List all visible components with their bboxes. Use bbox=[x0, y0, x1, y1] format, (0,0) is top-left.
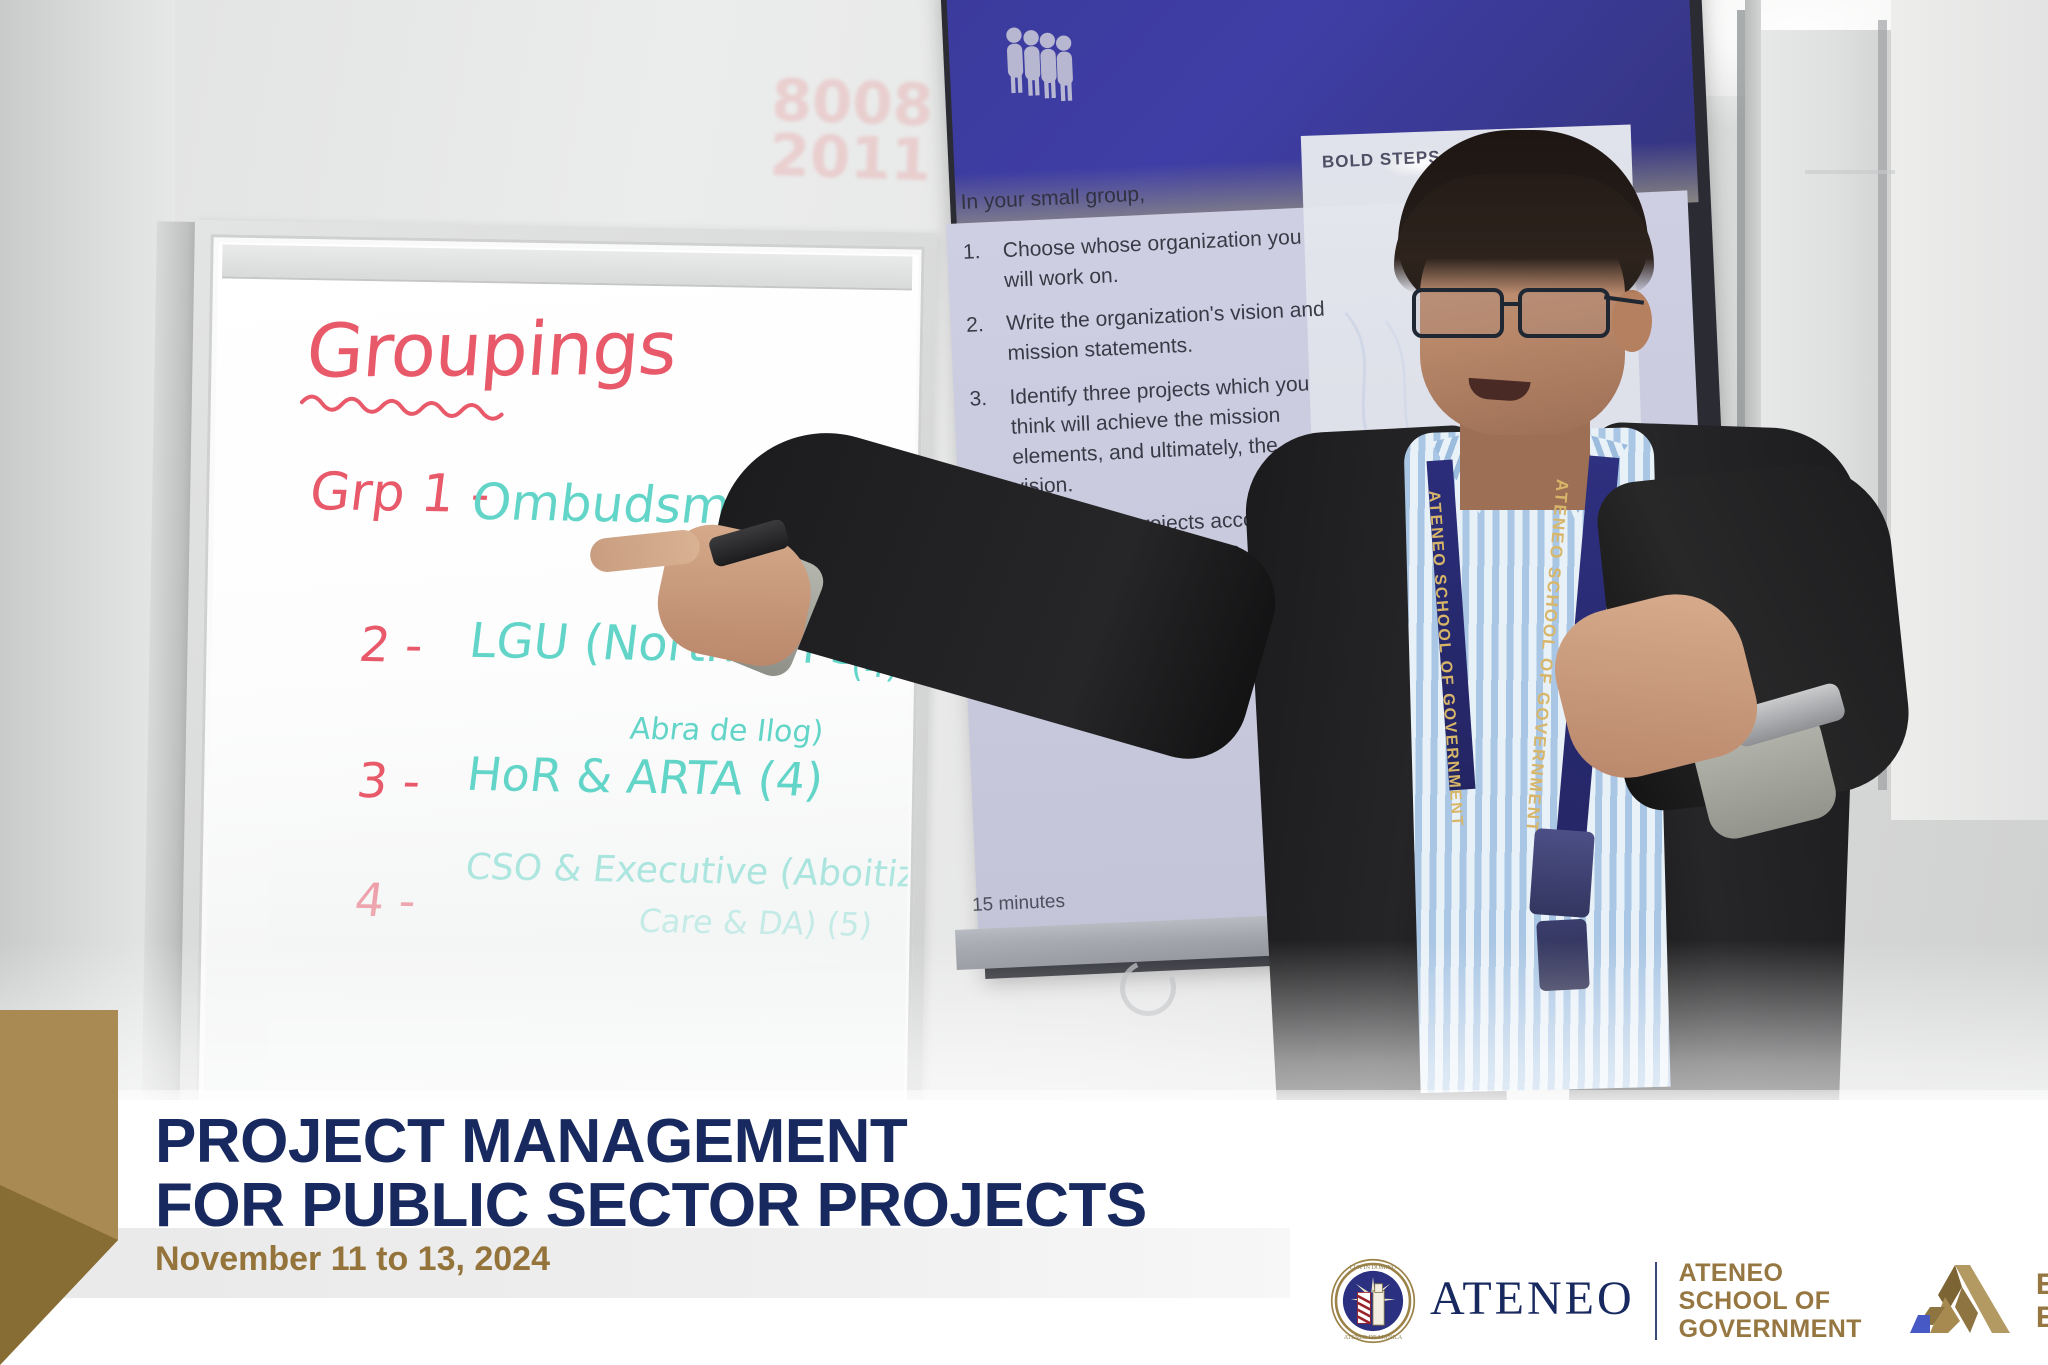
executive-education-logo-icon bbox=[1900, 1261, 2020, 1341]
executive-education-wordmark: EXECUTIVE EDUCATION bbox=[2036, 1268, 2048, 1334]
ateneo-school-of-government-wordmark: ATENEO SCHOOL OF GOVERNMENT bbox=[1679, 1259, 1862, 1343]
ateneo-wordmark: ATENEO bbox=[1430, 1275, 1635, 1327]
whiteboard-row-number: 3 - bbox=[354, 753, 424, 810]
event-date: November 11 to 13, 2024 bbox=[155, 1240, 550, 1279]
eyeglasses bbox=[1406, 282, 1638, 344]
id-badge bbox=[1529, 828, 1595, 918]
hair-fringe bbox=[1394, 174, 1654, 294]
whiteboard-row-number: 4 - bbox=[352, 873, 419, 928]
logo-lockup: LUX IN DOMINO ATENEO DE MANILA ATENEO AT… bbox=[1330, 1248, 2030, 1353]
group-of-people-icon bbox=[998, 20, 1087, 109]
asg-line-2: SCHOOL OF bbox=[1679, 1287, 1862, 1315]
page-title: PROJECT MANAGEMENT FOR PUBLIC SECTOR PRO… bbox=[155, 1110, 1355, 1239]
erased-wall-marks: 8008 2011 bbox=[768, 73, 903, 222]
speaker-figure: ATENEO SCHOOL OF GOVERNMENT ATENEO SCHOO… bbox=[1180, 130, 1940, 1090]
ateneo-seal-icon: LUX IN DOMINO ATENEO DE MANILA bbox=[1330, 1258, 1416, 1344]
exec-line-2: EDUCATION bbox=[2036, 1301, 2048, 1334]
whiteboard-row-subtext: Abra de Ilog) bbox=[628, 712, 825, 750]
asg-line-3: GOVERNMENT bbox=[1679, 1315, 1862, 1343]
seal-motto-top: LUX IN DOMINO bbox=[1350, 1265, 1397, 1271]
title-line-2: FOR PUBLIC SECTOR PROJECTS bbox=[155, 1174, 1355, 1238]
slide-item-number: 1. bbox=[962, 237, 991, 298]
slide-item-number: 2. bbox=[966, 310, 995, 371]
whiteboard-row-text: HoR & ARTA (4) bbox=[464, 747, 826, 807]
asg-line-1: ATENEO bbox=[1679, 1259, 1862, 1287]
whiteboard-heading: Groupings bbox=[303, 305, 679, 394]
whiteboard-heading-underline bbox=[299, 388, 515, 429]
title-line-1: PROJECT MANAGEMENT bbox=[155, 1110, 1355, 1174]
exec-line-1: EXECUTIVE bbox=[2036, 1268, 2048, 1301]
whiteboard-row-number: 2 - bbox=[356, 617, 426, 674]
whiteboard-row-text: CSO & Executive (Aboitiz, Friendly bbox=[463, 847, 918, 899]
lens-left bbox=[1412, 288, 1504, 338]
poster-canvas: BOLD STEPS In your small group, 1. Choos… bbox=[0, 0, 2048, 1365]
whiteboard-row-number: Grp 1 - bbox=[307, 462, 494, 525]
lens-right bbox=[1518, 288, 1610, 338]
logo-divider bbox=[1655, 1262, 1657, 1340]
whiteboard-row-subtext: Care & DA) (5) bbox=[636, 902, 874, 944]
glasses-bridge bbox=[1504, 302, 1522, 306]
gold-corner-accent bbox=[0, 1010, 140, 1365]
seal-motto-bottom: ATENEO DE MANILA bbox=[1344, 1334, 1403, 1340]
id-badge-secondary bbox=[1536, 919, 1590, 992]
